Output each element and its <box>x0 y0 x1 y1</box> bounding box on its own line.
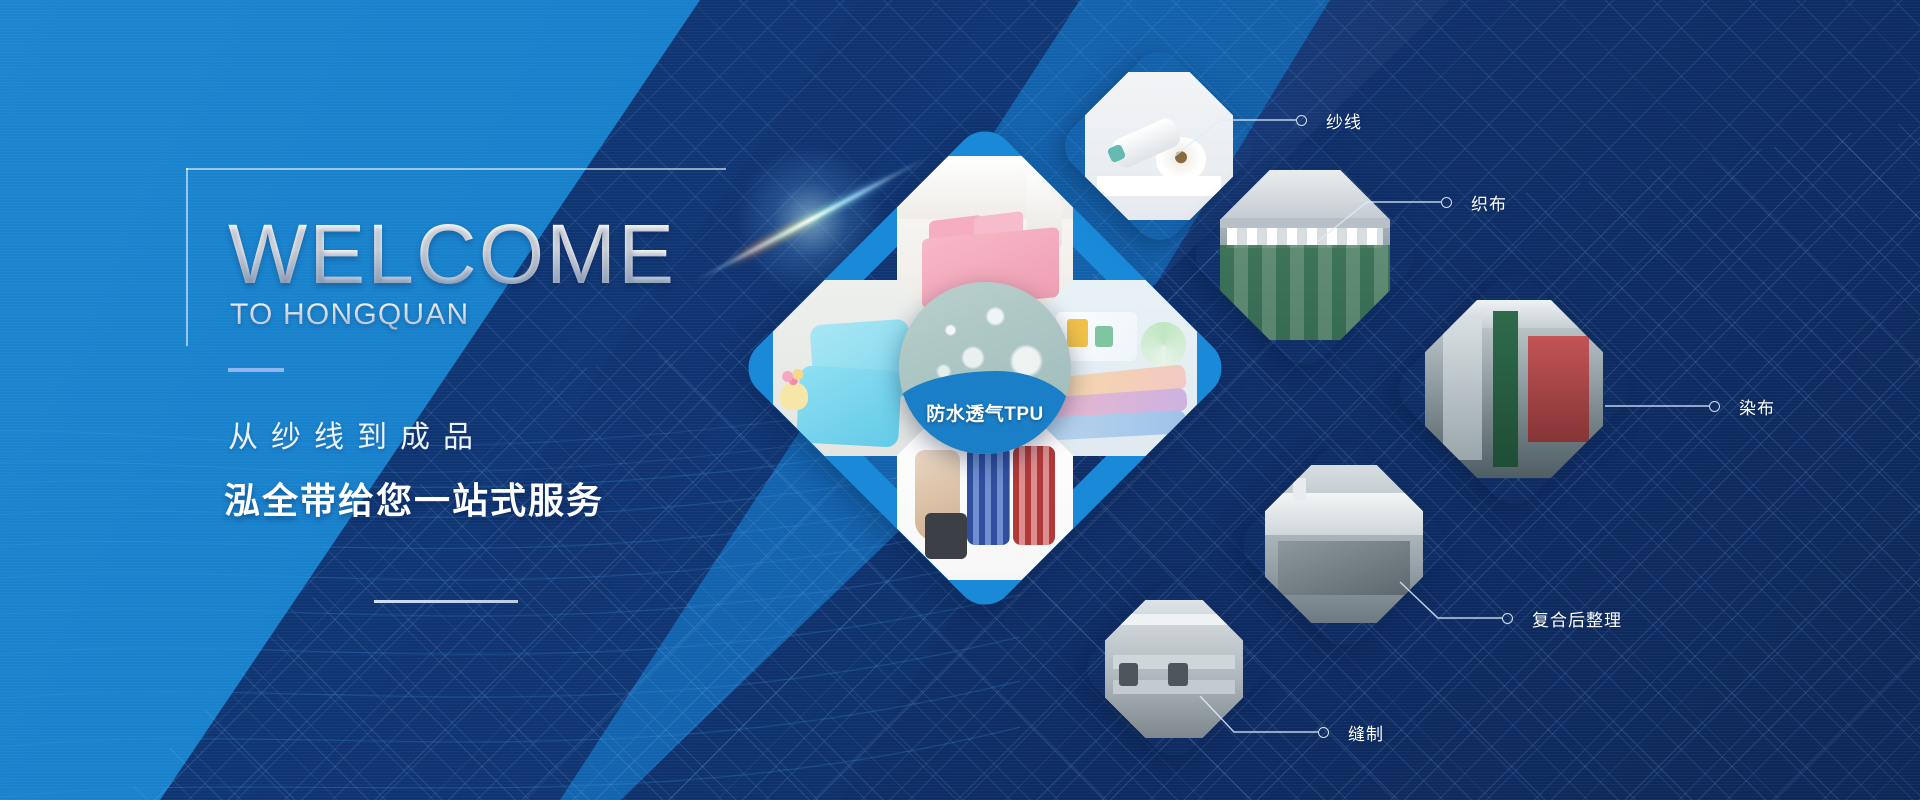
callout-label-sewing: 缝制 <box>1348 720 1384 745</box>
callout-label-lamination: 复合后整理 <box>1532 606 1622 631</box>
callout-label-yarn: 纱线 <box>1326 108 1362 133</box>
callout-weaving: 织布 <box>1295 142 1595 262</box>
frame-top-border <box>186 168 726 170</box>
tpu-feature-badge[interactable]: 防水透气TPU <box>899 282 1071 454</box>
frame-left-border <box>186 168 188 346</box>
callout-dyeing: 染布 <box>1605 378 1905 438</box>
callout-label-weaving: 织布 <box>1471 190 1507 215</box>
page-subtitle: TO HONGQUAN <box>230 300 469 330</box>
callout-dot-sewing <box>1318 727 1329 738</box>
callout-dot-yarn <box>1296 115 1307 126</box>
callout-dot-dyeing <box>1709 401 1720 412</box>
callout-sewing: 缝制 <box>1200 690 1500 780</box>
hero-headline-cn: 泓全带给您一站式服务 <box>224 472 604 524</box>
page-title: WELCOME <box>228 212 676 296</box>
bottom-divider-rule <box>374 600 518 603</box>
callout-dot-lamination <box>1502 613 1513 624</box>
accent-rule <box>228 368 284 372</box>
tpu-badge-label: 防水透气TPU <box>899 399 1071 426</box>
hero-banner: WELCOME TO HONGQUAN 从纱线到成品 泓全带给您一站式服务 <box>0 0 1920 800</box>
hero-tagline: 从纱线到成品 <box>228 412 486 456</box>
callout-lamination: 复合后整理 <box>1400 570 1740 680</box>
callout-label-dyeing: 染布 <box>1739 394 1775 419</box>
callout-dot-weaving <box>1441 197 1452 208</box>
